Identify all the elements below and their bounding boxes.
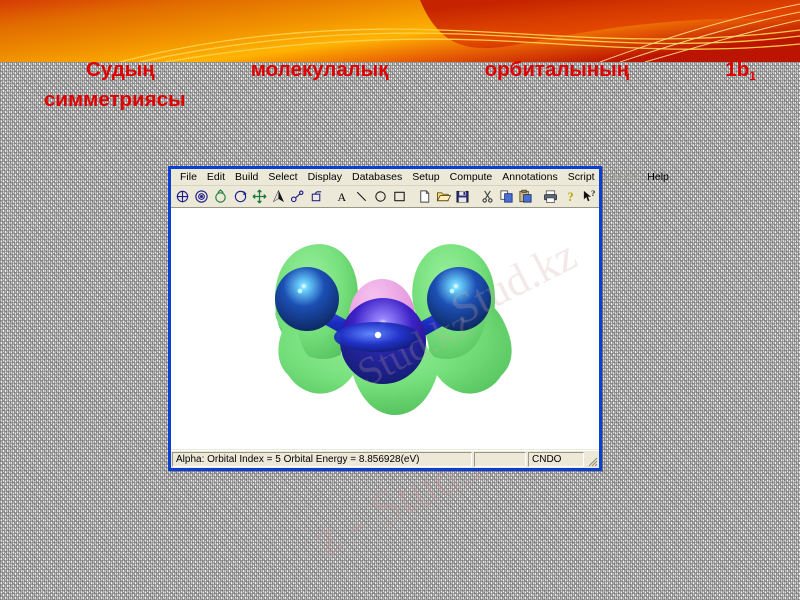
title-word-2: молекулалық — [251, 56, 389, 86]
context-help-icon[interactable]: ? — [580, 187, 599, 206]
zoom-icon[interactable] — [211, 187, 230, 206]
hydrogen-atom-1 — [275, 267, 339, 331]
window-resize-grip[interactable] — [585, 451, 599, 468]
menu-bar: File Edit Build Select Display Databases… — [171, 169, 599, 186]
svg-text:?: ? — [591, 189, 595, 198]
status-bar: Alpha: Orbital Index = 5 Orbital Energy … — [171, 450, 599, 468]
orbital-subscript: 1 — [749, 69, 756, 83]
translate-icon[interactable] — [250, 187, 269, 206]
constrain-icon[interactable] — [307, 187, 326, 206]
slide-title: Судың молекулалық орбиталының 1b1 симмет… — [44, 56, 756, 113]
menu-compute[interactable]: Compute — [445, 169, 498, 185]
title-line-1: Судың молекулалық орбиталының 1b1 — [44, 56, 756, 86]
menu-help[interactable]: Help — [642, 169, 674, 185]
print-icon[interactable] — [541, 187, 560, 206]
text-tool-glyph: A — [337, 191, 346, 203]
select-pointer-icon[interactable] — [269, 187, 288, 206]
menu-select[interactable]: Select — [263, 169, 302, 185]
hydrogen-atom-2 — [427, 267, 491, 331]
title-word-3: орбиталының — [485, 56, 630, 86]
svg-text:?: ? — [567, 190, 573, 204]
toolbar: A — [171, 186, 599, 208]
status-empty-panel — [474, 452, 526, 467]
menu-build[interactable]: Build — [230, 169, 263, 185]
ellipse-tool-icon[interactable] — [371, 187, 390, 206]
decorative-banner — [0, 0, 800, 62]
rectangle-tool-icon[interactable] — [390, 187, 409, 206]
menu-edit[interactable]: Edit — [202, 169, 230, 185]
molecular-orbital-viewport[interactable]: Stud.kz Stud.kz — [171, 208, 599, 449]
title-orbital-label: 1b1 — [725, 56, 756, 86]
copy-icon[interactable] — [497, 187, 516, 206]
slide-background: Судың молекулалық орбиталының 1b1 симмет… — [0, 0, 800, 600]
save-file-icon[interactable] — [453, 187, 472, 206]
menu-setup[interactable]: Setup — [407, 169, 444, 185]
title-line-2: симметриясы — [44, 86, 756, 113]
line-tool-icon[interactable] — [351, 187, 370, 206]
new-file-icon[interactable] — [415, 187, 434, 206]
cut-icon[interactable] — [478, 187, 497, 206]
draw-bond-icon[interactable] — [288, 187, 307, 206]
menu-cancel: Cancel — [600, 169, 643, 185]
molecular-modeling-window[interactable]: File Edit Build Select Display Databases… — [168, 166, 602, 471]
menu-file[interactable]: File — [175, 169, 202, 185]
menu-annotations[interactable]: Annotations — [497, 169, 562, 185]
status-orbital-info: Alpha: Orbital Index = 5 Orbital Energy … — [172, 452, 472, 467]
menu-display[interactable]: Display — [303, 169, 347, 185]
z-rotate-icon[interactable] — [192, 187, 211, 206]
help-question-icon[interactable]: ? — [561, 187, 580, 206]
open-file-icon[interactable] — [434, 187, 453, 206]
title-word-1: Судың — [86, 56, 155, 86]
xy-rotate-icon[interactable] — [173, 187, 192, 206]
menu-script[interactable]: Script — [563, 169, 600, 185]
paste-icon[interactable] — [516, 187, 535, 206]
orbit-icon[interactable] — [231, 187, 250, 206]
menu-databases[interactable]: Databases — [347, 169, 407, 185]
orbital-symbol: 1b — [725, 58, 749, 81]
status-method-badge: CNDO — [528, 452, 584, 467]
text-tool-icon[interactable]: A — [332, 187, 351, 206]
